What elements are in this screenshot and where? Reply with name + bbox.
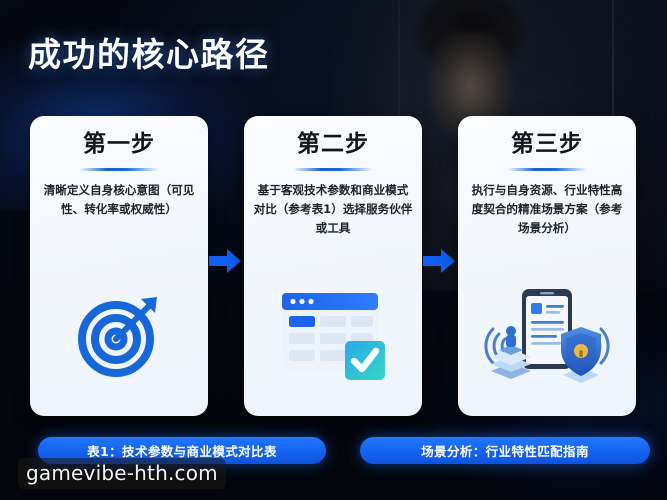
page-title: 成功的核心路径 xyxy=(28,28,270,76)
step-3-heading: 第三步 xyxy=(511,132,583,157)
step-3-divider xyxy=(508,168,586,171)
step-card-3: 第三步 执行与自身资源、行业特性高度契合的精准场景方案（参考场景分析） xyxy=(458,116,636,416)
step-2-divider xyxy=(294,168,372,171)
step-3-body: 执行与自身资源、行业特性高度契合的精准场景方案（参考场景分析） xyxy=(467,181,627,237)
footer-button-scenario-analysis[interactable]: 场景分析：行业特性匹配指南 xyxy=(360,437,650,464)
step-card-1: 第一步 清晰定义自身核心意图（可见性、转化率或权威性） xyxy=(30,116,208,416)
step-1-heading: 第一步 xyxy=(83,132,155,157)
step-2-heading: 第二步 xyxy=(297,132,369,157)
watermark: gamevibe-hth.com xyxy=(18,458,226,489)
tablet-shield-user-icon xyxy=(472,280,622,390)
arrow-step1-to-step2 xyxy=(209,248,241,274)
step-card-2: 第二步 基于客观技术参数和商业模式对比（参考表1）选择服务伙伴或工具 xyxy=(244,116,422,416)
step-1-divider xyxy=(80,168,158,171)
arrow-step2-to-step3 xyxy=(423,248,455,274)
slide-canvas: 成功的核心路径 第一步 清晰定义自身核心意图（可见性、转化率或权威性） 第二步 … xyxy=(0,0,667,500)
browser-grid-check-icon xyxy=(258,280,408,390)
target-arrow-icon xyxy=(44,280,194,390)
step-2-body: 基于客观技术参数和商业模式对比（参考表1）选择服务伙伴或工具 xyxy=(253,181,413,237)
step-1-body: 清晰定义自身核心意图（可见性、转化率或权威性） xyxy=(39,181,199,219)
